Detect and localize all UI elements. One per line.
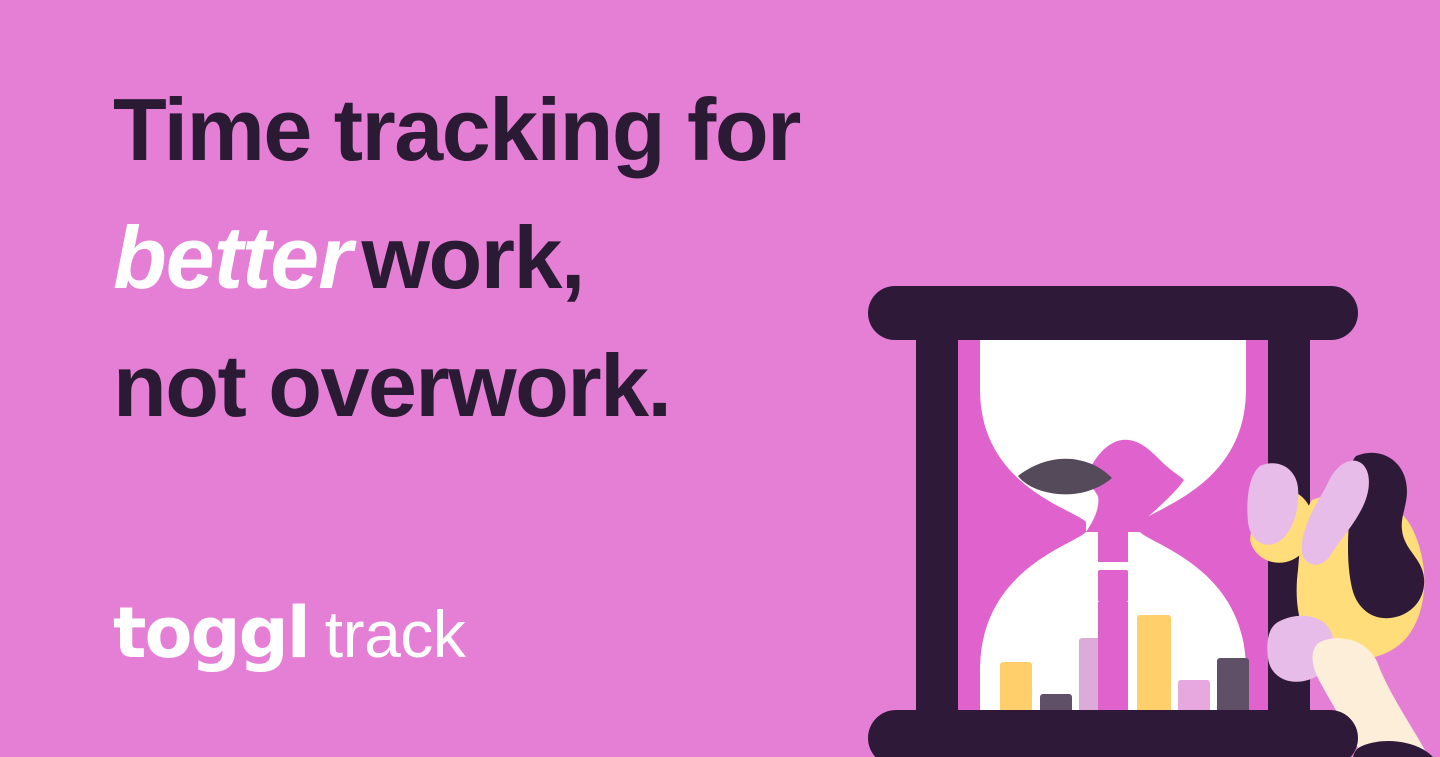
headline-line-3: not overwork. <box>113 342 973 430</box>
hourglass-frame-top-bar <box>868 286 1358 340</box>
logo-product-track: track <box>325 596 466 672</box>
headline-line-2: betterwork, <box>113 214 973 302</box>
hourglass-illustration <box>850 270 1440 757</box>
page-title: Time tracking for betterwork, not overwo… <box>113 86 973 430</box>
headline-line-1: Time tracking for <box>113 86 973 174</box>
sand-stream-drop <box>1098 570 1128 602</box>
toggl-track-logo[interactable]: toggl track <box>113 592 465 674</box>
headline-line-2-rest: work, <box>362 208 584 307</box>
logo-brand-toggl: toggl <box>113 592 309 674</box>
promo-banner: Time tracking for betterwork, not overwo… <box>0 0 1440 757</box>
headline-emphasis-word: better <box>113 208 362 307</box>
hourglass-frame-left-post <box>916 300 958 748</box>
sand-stream <box>1098 532 1128 562</box>
hourglass-frame-bottom-bar <box>868 710 1358 757</box>
